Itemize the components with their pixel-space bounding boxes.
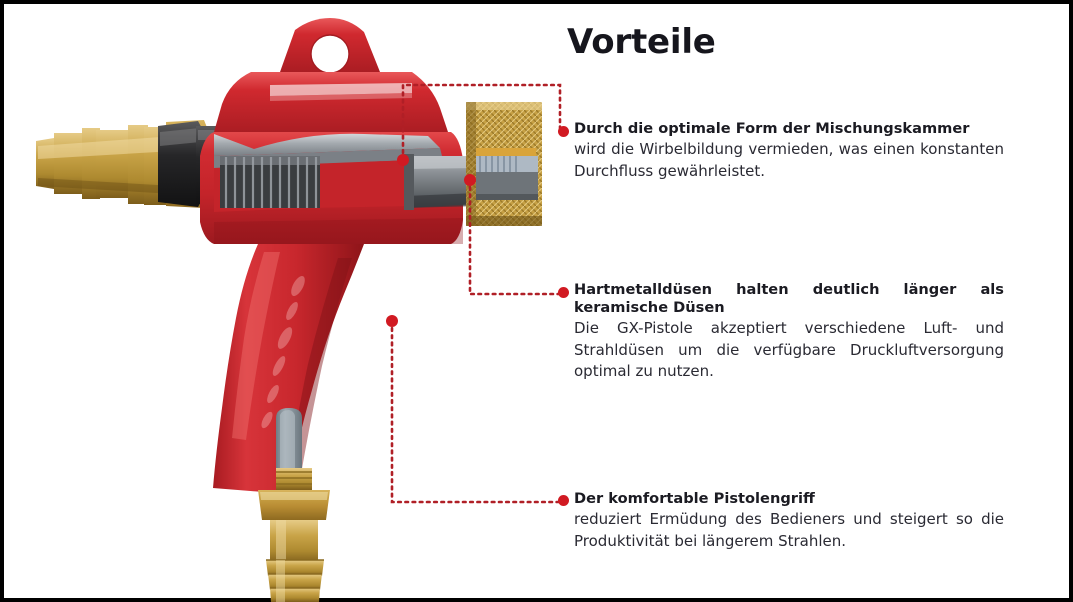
callout-body-carbide-nozzles: Die GX-Pistole akzeptiert verschiedene L… xyxy=(574,318,1004,383)
callout-title-pistol-grip: Der komfortable Pistolengriff xyxy=(574,490,1004,508)
anchor-pistol-grip xyxy=(386,315,398,327)
callout-pistol-grip: Der komfortable Pistolengriff reduziert … xyxy=(574,490,1004,552)
brass-nozzle-nut xyxy=(466,102,542,226)
leader-pistol-grip xyxy=(392,321,560,502)
advantages-panel: Vorteile Durch die optimale Form der Mis… xyxy=(560,4,1060,598)
anchor-carbide-nozzles xyxy=(464,174,476,186)
callout-carbide-nozzles: Hartmetalldüsen halten deutlich länger a… xyxy=(574,281,1004,383)
callout-mixing-chamber: Durch die optimale Form der Mischungskam… xyxy=(574,120,1004,182)
callout-body-mixing-chamber: wird die Wirbelbildung vermieden, was ei… xyxy=(574,139,1004,182)
product-illustration xyxy=(8,8,564,602)
advantages-figure: Vorteile Durch die optimale Form der Mis… xyxy=(0,0,1073,602)
callout-title-mixing-chamber: Durch die optimale Form der Mischungskam… xyxy=(574,120,1004,138)
air-inlet-thread xyxy=(220,156,320,208)
bullet-pistol-grip xyxy=(558,495,569,506)
callout-body-pistol-grip: reduziert Ermüdung des Bedieners und ste… xyxy=(574,509,1004,552)
page-title: Vorteile xyxy=(567,22,716,62)
bullet-carbide-nozzles xyxy=(558,287,569,298)
callout-title-carbide-nozzles: Hartmetalldüsen halten deutlich länger a… xyxy=(574,281,1004,317)
grit-nozzle-tip xyxy=(276,408,302,478)
bullet-mixing-chamber xyxy=(558,126,569,137)
anchor-mixing-chamber xyxy=(397,154,409,166)
